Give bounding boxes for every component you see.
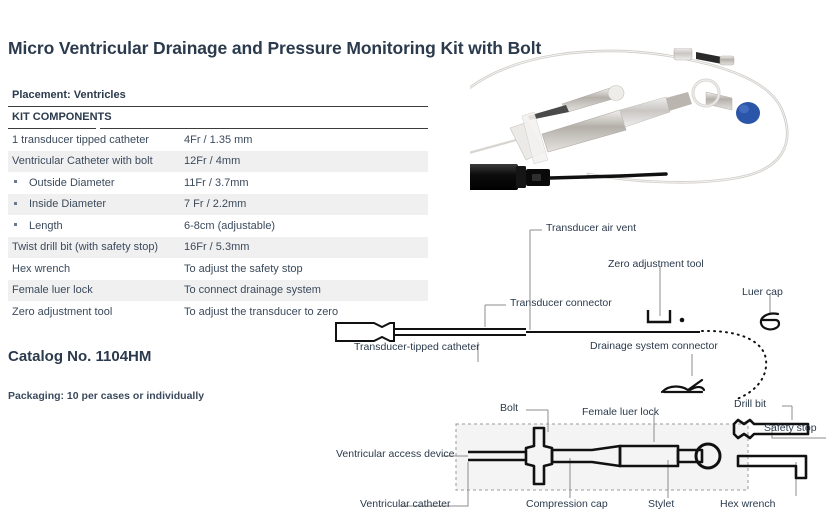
component-label: Length bbox=[29, 220, 63, 232]
label-ventricular-access-device: Ventricular access device bbox=[336, 448, 454, 460]
component-name: Ventricular Catheter with bolt bbox=[8, 155, 180, 167]
label-transducer-tipped-catheter: Transducer-tipped catheter bbox=[354, 341, 480, 353]
kit-components-header: KIT COMPONENTS bbox=[8, 111, 112, 123]
page-title: Micro Ventricular Drainage and Pressure … bbox=[8, 38, 541, 59]
table-header-row: KIT COMPONENTS bbox=[8, 107, 428, 129]
placement-row: Placement: Ventricles bbox=[8, 84, 428, 106]
table-rule-header bbox=[8, 128, 428, 129]
component-name: Twist drill bit (with safety stop) bbox=[8, 241, 180, 253]
component-spec: 7 Fr / 2.2mm bbox=[180, 198, 428, 210]
table-row: Outside Diameter 11Fr / 3.7mm bbox=[8, 172, 428, 194]
label-transducer-air-vent: Transducer air vent bbox=[546, 222, 636, 234]
label-stylet: Stylet bbox=[648, 498, 674, 510]
component-spec: 12Fr / 4mm bbox=[180, 155, 428, 167]
component-spec: 11Fr / 3.7mm bbox=[180, 177, 428, 189]
product-photo bbox=[470, 48, 830, 208]
packaging-info: Packaging: 10 per cases or individually bbox=[8, 390, 204, 402]
label-transducer-connector: Transducer connector bbox=[510, 297, 612, 309]
component-label: Outside Diameter bbox=[29, 177, 115, 189]
table-row: Ventricular Catheter with bolt 12Fr / 4m… bbox=[8, 151, 428, 173]
label-compression-cap: Compression cap bbox=[526, 498, 608, 510]
component-name: 1 transducer tipped catheter bbox=[8, 134, 180, 146]
label-drill-bit: Drill bit bbox=[734, 398, 766, 410]
label-luer-cap: Luer cap bbox=[742, 286, 783, 298]
label-bolt: Bolt bbox=[500, 402, 518, 414]
component-name-indented: Length bbox=[8, 220, 180, 232]
bullet-icon bbox=[14, 180, 17, 183]
component-name: Female luer lock bbox=[8, 284, 180, 296]
component-name-indented: Inside Diameter bbox=[8, 198, 180, 210]
label-drainage-system-connector: Drainage system connector bbox=[590, 340, 718, 352]
label-hex-wrench: Hex wrench bbox=[720, 498, 775, 510]
bullet-icon bbox=[14, 202, 17, 205]
label-safety-stop: Safety stop bbox=[764, 422, 817, 434]
component-name: Zero adjustment tool bbox=[8, 306, 180, 318]
table-row: 1 transducer tipped catheter 4Fr / 1.35 … bbox=[8, 129, 428, 151]
component-diagram: Transducer air vent Zero adjustment tool… bbox=[330, 210, 834, 520]
component-label: Inside Diameter bbox=[29, 198, 106, 210]
label-zero-adjustment-tool: Zero adjustment tool bbox=[608, 258, 704, 270]
label-female-luer-lock: Female luer lock bbox=[582, 406, 659, 418]
catalog-number: Catalog No. 1104HM bbox=[8, 348, 151, 365]
placement-label: Placement: Ventricles bbox=[8, 89, 126, 101]
component-name-indented: Outside Diameter bbox=[8, 177, 180, 189]
component-name: Hex wrench bbox=[8, 263, 180, 275]
component-spec: 4Fr / 1.35 mm bbox=[180, 134, 428, 146]
product-spec-page: Micro Ventricular Drainage and Pressure … bbox=[0, 0, 834, 523]
bullet-icon bbox=[14, 223, 17, 226]
label-ventricular-catheter: Ventricular catheter bbox=[360, 498, 450, 510]
